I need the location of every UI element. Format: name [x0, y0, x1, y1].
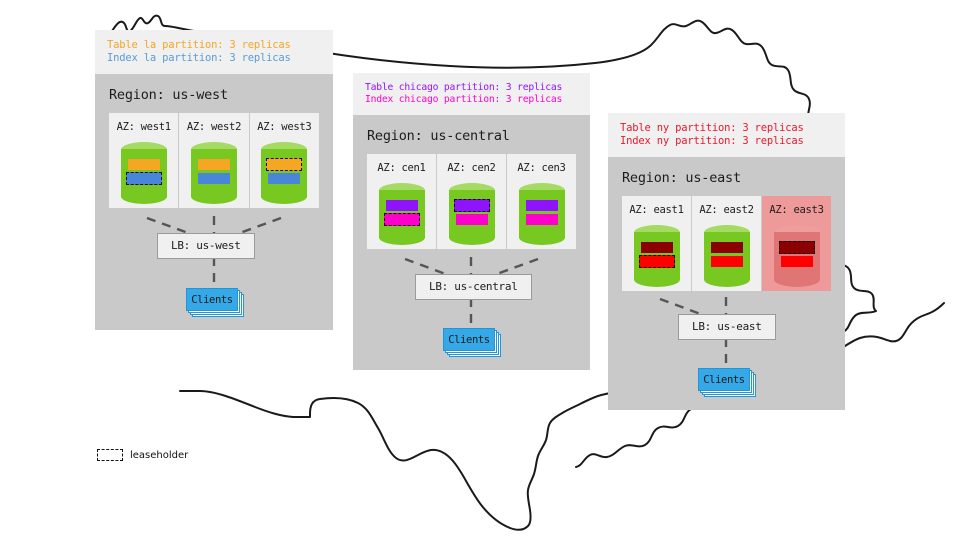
az-label-west2: AZ: west2	[187, 121, 241, 133]
clients-label: Clients	[698, 368, 750, 391]
replica-band-table-leaseholder	[779, 241, 815, 254]
replica-band-index	[781, 256, 813, 267]
clients-us-east[interactable]: Clients	[698, 368, 754, 393]
partition-info-table: Table chicago partition: 3 replicas	[365, 82, 578, 94]
region-panel-us-east: Table ny partition: 3 replicas Index ny …	[608, 113, 845, 410]
partition-info-table: Table ny partition: 3 replicas	[620, 122, 833, 135]
az-strip-us-central: AZ: cen1 AZ: cen2 AZ: cen3	[367, 154, 576, 249]
db-node-cen3[interactable]	[519, 183, 565, 245]
az-cen2[interactable]: AZ: cen2	[437, 154, 507, 249]
replica-band-index-leaseholder	[384, 213, 420, 226]
replica-band-index	[526, 214, 558, 225]
az-label-cen2: AZ: cen2	[447, 162, 495, 174]
clients-us-west[interactable]: Clients	[186, 288, 242, 313]
az-west2[interactable]: AZ: west2	[179, 113, 249, 208]
replica-band-table	[526, 200, 558, 211]
az-east1[interactable]: AZ: east1	[622, 196, 692, 291]
az-cen3[interactable]: AZ: cen3	[507, 154, 576, 249]
db-node-east2[interactable]	[704, 225, 750, 287]
db-node-cen1[interactable]	[379, 183, 425, 245]
replica-band-table	[711, 242, 743, 253]
az-label-east3: AZ: east3	[769, 204, 823, 216]
az-strip-us-west: AZ: west1 AZ: west2 AZ: west3	[109, 113, 319, 208]
db-node-cen2[interactable]	[449, 183, 495, 245]
az-west3[interactable]: AZ: west3	[250, 113, 319, 208]
partition-info-index: Index chicago partition: 3 replicas	[365, 94, 578, 106]
az-east3-failed[interactable]: AZ: east3	[762, 196, 831, 291]
az-label-east1: AZ: east1	[629, 204, 683, 216]
replica-band-table	[641, 242, 673, 253]
partition-info-table: Table la partition: 3 replicas	[107, 39, 321, 52]
load-balancer-us-west[interactable]: LB: us-west	[157, 233, 255, 259]
legend: leaseholder	[97, 449, 188, 461]
leaseholder-swatch-icon	[97, 449, 123, 461]
replica-band-index	[198, 173, 230, 184]
partition-info-index: Index la partition: 3 replicas	[107, 52, 321, 65]
region-panel-us-west: Table la partition: 3 replicas Index la …	[95, 30, 333, 330]
az-strip-us-east: AZ: east1 AZ: east2 AZ: east3	[622, 196, 831, 291]
az-east2[interactable]: AZ: east2	[692, 196, 762, 291]
db-node-west3[interactable]	[261, 142, 307, 204]
az-label-west1: AZ: west1	[117, 121, 171, 133]
region-title-us-west: Region: us-west	[95, 74, 333, 113]
region-title-us-central: Region: us-central	[353, 115, 590, 154]
replica-band-table-leaseholder	[454, 199, 490, 212]
az-cen1[interactable]: AZ: cen1	[367, 154, 437, 249]
region-title-us-east: Region: us-east	[608, 157, 845, 196]
replica-band-index	[711, 256, 743, 267]
replica-band-table-leaseholder	[266, 158, 302, 171]
az-label-cen3: AZ: cen3	[517, 162, 565, 174]
replica-band-index-leaseholder	[639, 255, 675, 268]
partition-info-index: Index ny partition: 3 replicas	[620, 135, 833, 148]
clients-label: Clients	[443, 328, 495, 351]
db-node-west2[interactable]	[191, 142, 237, 204]
load-balancer-us-central[interactable]: LB: us-central	[415, 274, 532, 300]
replica-band-table	[128, 159, 160, 170]
replica-band-table	[198, 159, 230, 170]
clients-label: Clients	[186, 288, 238, 311]
replica-band-index-leaseholder	[126, 172, 162, 185]
replica-band-index	[268, 173, 300, 184]
az-west1[interactable]: AZ: west1	[109, 113, 179, 208]
replica-band-index	[456, 214, 488, 225]
region-header-us-central: Table chicago partition: 3 replicas Inde…	[353, 73, 590, 115]
load-balancer-us-east[interactable]: LB: us-east	[678, 314, 776, 340]
db-node-west1[interactable]	[121, 142, 167, 204]
legend-label-leaseholder: leaseholder	[130, 450, 188, 461]
region-panel-us-central: Table chicago partition: 3 replicas Inde…	[353, 73, 590, 370]
db-node-east3-failed[interactable]	[774, 225, 820, 287]
region-header-us-west: Table la partition: 3 replicas Index la …	[95, 30, 333, 74]
replica-band-table	[386, 200, 418, 211]
az-label-east2: AZ: east2	[699, 204, 753, 216]
az-label-cen1: AZ: cen1	[377, 162, 425, 174]
region-header-us-east: Table ny partition: 3 replicas Index ny …	[608, 113, 845, 157]
db-node-east1[interactable]	[634, 225, 680, 287]
clients-us-central[interactable]: Clients	[443, 328, 499, 353]
az-label-west3: AZ: west3	[257, 121, 311, 133]
